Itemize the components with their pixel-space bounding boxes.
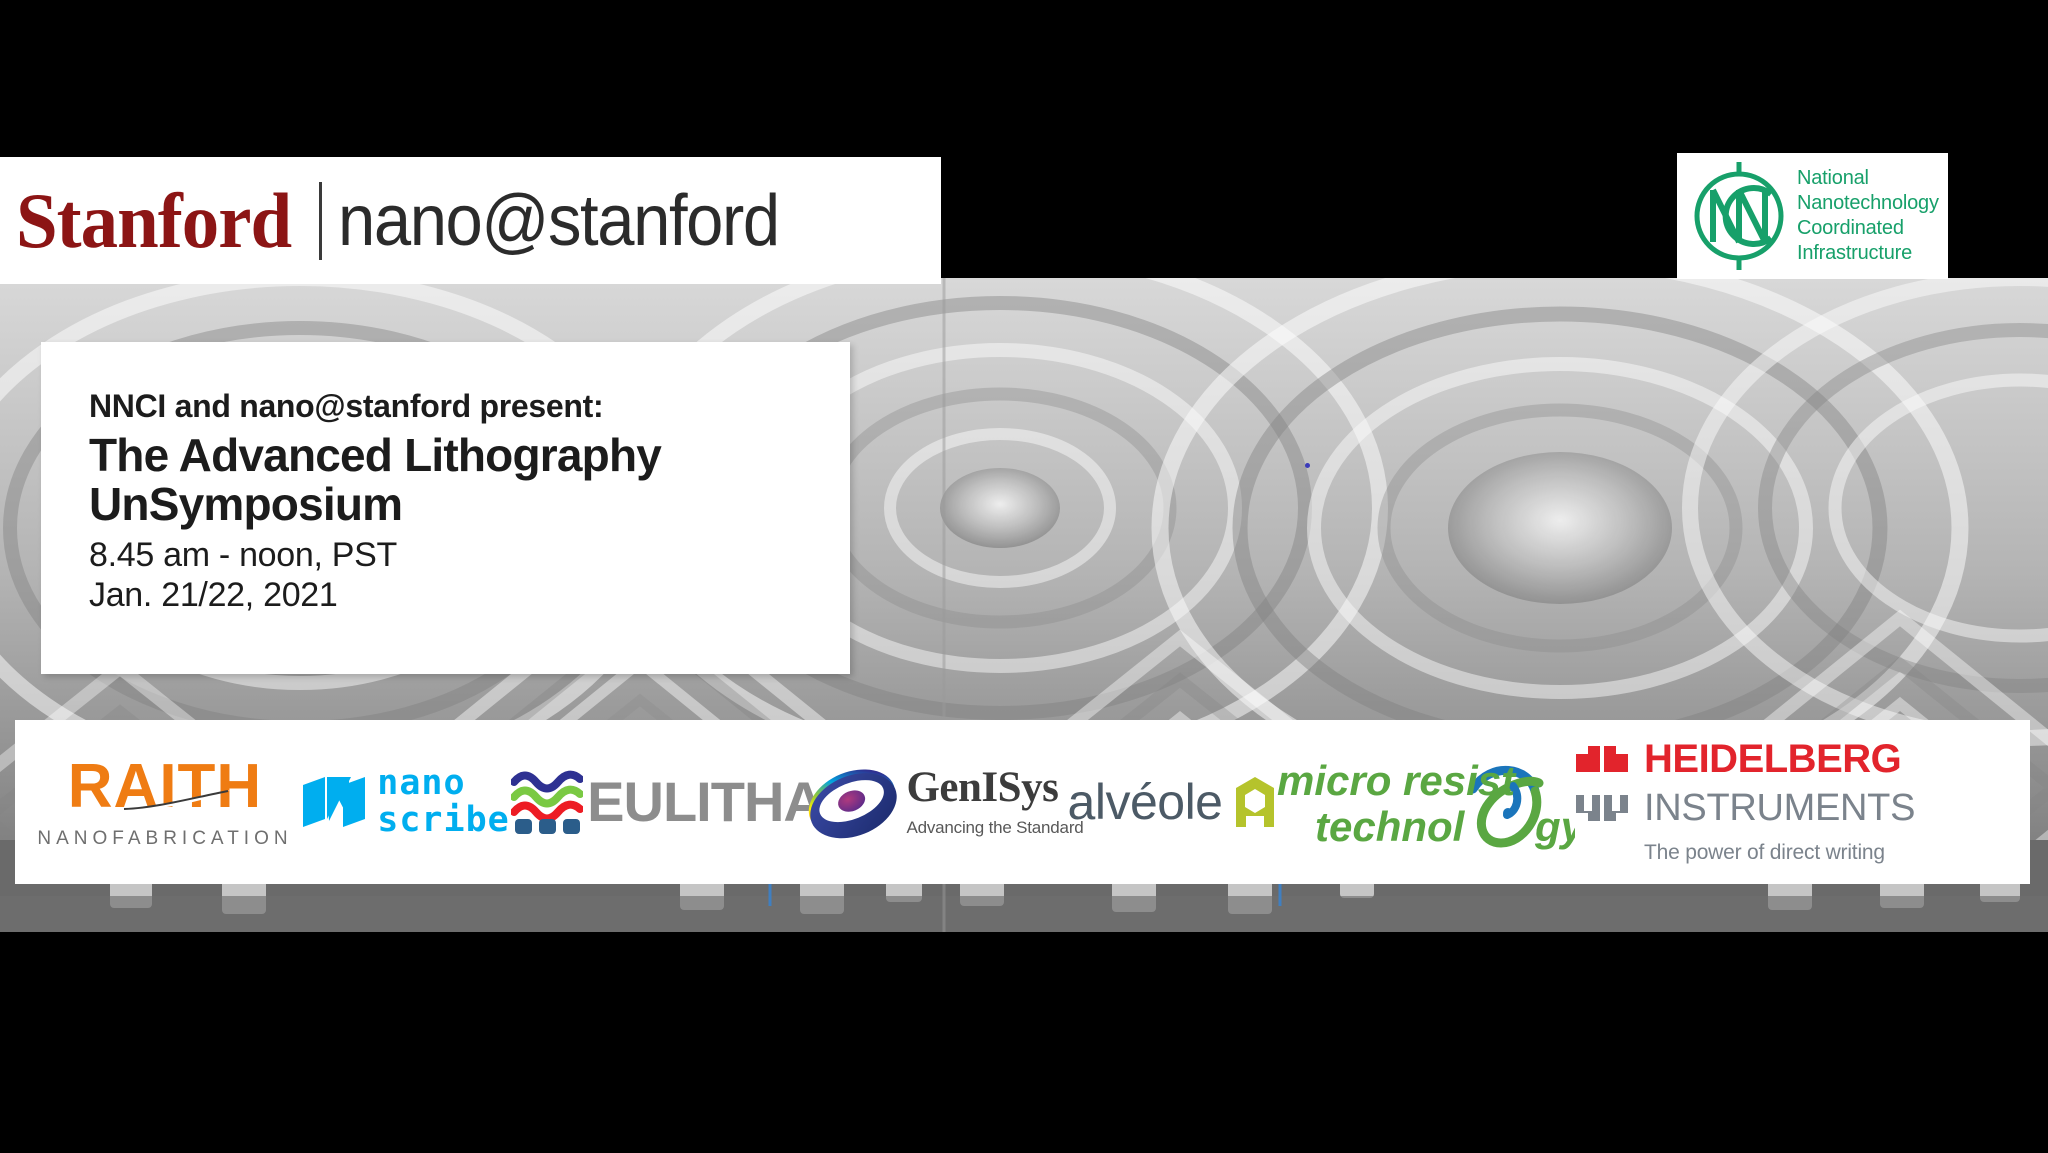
event-title-line-1: The Advanced Lithography	[89, 431, 850, 480]
nnci-wordmark: National Nanotechnology Coordinated Infr…	[1797, 167, 1939, 266]
event-title-line-2: UnSymposium	[89, 480, 850, 529]
raith-tagline: NANOFABRICATION	[37, 829, 292, 848]
svg-text:technol: technol	[1315, 803, 1466, 850]
heidelberg-blocks-icon	[1576, 746, 1632, 772]
nanoscribe-line-scribe: scribe	[377, 804, 509, 837]
alveole-wordmark: alvéole	[1068, 777, 1223, 827]
event-time: 8.45 am - noon, PST	[89, 535, 850, 575]
svg-text:micro resist: micro resist	[1277, 757, 1517, 804]
genisys-tagline: Advancing the Standard	[906, 818, 1083, 838]
heidelberg-blocks-secondary-icon	[1576, 795, 1632, 821]
event-date: Jan. 21/22, 2021	[89, 575, 850, 615]
heidelberg-name: HEIDELBERG	[1644, 739, 1901, 779]
nnci-line-infrastructure: Infrastructure	[1797, 242, 1939, 265]
genisys-wordmark: GenISys Advancing the Standard	[906, 766, 1083, 838]
heidelberg-bottom-row: INSTRUMENTS	[1576, 789, 1915, 827]
eulitha-wordmark: EULITHA	[587, 774, 823, 830]
stanford-logo-lockup: Stanford nano@stanford	[0, 157, 941, 284]
heidelberg-top-row: HEIDELBERG	[1576, 739, 1901, 779]
image-speck	[1305, 463, 1310, 468]
eulitha-waves-icon	[511, 769, 583, 835]
event-title-card: NNCI and nano@stanford present: The Adva…	[41, 342, 850, 674]
svg-text:gy: gy	[1534, 803, 1575, 850]
sponsor-logo-bar: RAITH NANOFABRICATION nano scribe	[15, 720, 2030, 884]
nnci-line-nanotechnology: Nanotechnology	[1797, 192, 1939, 215]
stanford-wordmark: Stanford	[16, 182, 291, 260]
nnci-logo: National Nanotechnology Coordinated Infr…	[1677, 153, 1948, 279]
sponsor-logo-genisys[interactable]: GenISys Advancing the Standard	[820, 720, 1068, 884]
micro-resist-loop-icon: micro resist technol gy	[1277, 753, 1575, 851]
genisys-rainbow-torus-icon	[804, 758, 900, 846]
presenters-line: NNCI and nano@stanford present:	[89, 388, 850, 426]
sponsor-logo-micro-resist-technology[interactable]: micro resist technol gy	[1276, 720, 1576, 884]
nnci-line-coordinated: Coordinated	[1797, 217, 1939, 240]
nnci-monogram-icon	[1687, 160, 1791, 272]
nanoscribe-wordmark: nano scribe	[377, 767, 509, 837]
heidelberg-tagline: The power of direct writing	[1644, 841, 1885, 865]
sponsor-logo-heidelberg-instruments[interactable]: HEIDELBERG INSTRUMENTS The power of dire…	[1576, 720, 1894, 884]
raith-swoosh-icon	[120, 789, 232, 811]
genisys-name: GenISys	[906, 766, 1083, 809]
presentation-slide: Stanford nano@stanford Nation	[0, 0, 2048, 1153]
heidelberg-instruments-name: INSTRUMENTS	[1644, 789, 1915, 827]
nnci-line-national: National	[1797, 167, 1939, 190]
nano-at-stanford-wordmark: nano@stanford	[338, 185, 779, 257]
sponsor-logo-raith[interactable]: RAITH NANOFABRICATION	[31, 720, 299, 884]
raith-wordmark: RAITH	[68, 756, 262, 818]
nanoscribe-line-nano: nano	[377, 767, 509, 800]
sponsor-logo-alveole[interactable]: alvéole	[1068, 720, 1276, 884]
sponsor-logo-eulitha[interactable]: EULITHA	[514, 720, 820, 884]
nanoscribe-n-mark-icon	[303, 775, 365, 829]
alveole-hexagon-icon	[1234, 776, 1276, 828]
sponsor-logo-nanoscribe[interactable]: nano scribe	[299, 720, 514, 884]
stanford-divider-rule	[319, 182, 322, 260]
